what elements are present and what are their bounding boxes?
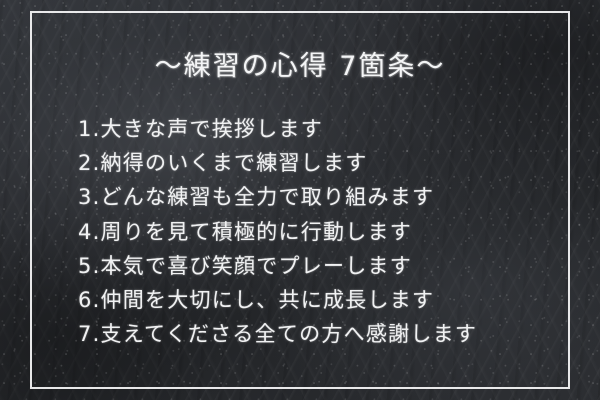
list-item: 1.大きな声で挨拶します [78, 112, 477, 146]
page-title: 〜練習の心得 7箇条〜 [0, 50, 600, 84]
list-item: 6.仲間を大切にし、共に成長します [78, 283, 477, 317]
list-item: 4.周りを見て積極的に行動します [78, 215, 477, 249]
list-item: 5.本気で喜び笑顔でプレーします [78, 249, 477, 283]
list-item: 7.支えてくださる全ての方へ感謝します [78, 317, 477, 351]
chalkboard-poster: 〜練習の心得 7箇条〜 1.大きな声で挨拶します 2.納得のいくまで練習します … [0, 0, 600, 400]
list-item: 3.どんな練習も全力で取り組みます [78, 180, 477, 214]
rules-list: 1.大きな声で挨拶します 2.納得のいくまで練習します 3.どんな練習も全力で取… [78, 112, 477, 351]
poster-content: 〜練習の心得 7箇条〜 1.大きな声で挨拶します 2.納得のいくまで練習します … [0, 0, 600, 400]
list-item: 2.納得のいくまで練習します [78, 146, 477, 180]
